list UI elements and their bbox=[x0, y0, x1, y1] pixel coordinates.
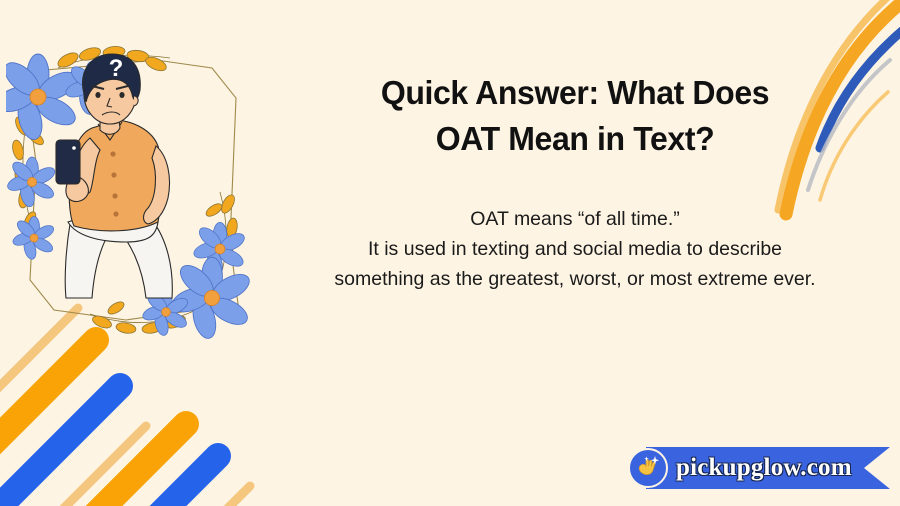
headline-line-2: OAT Mean in Text? bbox=[268, 116, 883, 162]
phone-camera-dot bbox=[72, 146, 76, 150]
stripe-orange-light-2 bbox=[30, 426, 146, 506]
page-title: Quick Answer: What Does OAT Mean in Text… bbox=[268, 70, 883, 162]
ear bbox=[134, 96, 138, 106]
body-line-2: It is used in texting and social media t… bbox=[258, 234, 892, 264]
stripe-orange-1 bbox=[0, 340, 96, 472]
promo-card: ? Quick Answer: What Does OAT Mean in Te… bbox=[0, 0, 900, 506]
sparkle-hand-icon bbox=[639, 456, 659, 475]
body-line-3: something as the greatest, worst, or mos… bbox=[258, 264, 892, 294]
brand-badge[interactable]: pickupglow.com bbox=[628, 447, 890, 489]
svg-text:?: ? bbox=[109, 55, 124, 82]
headline-line-1: Quick Answer: What Does bbox=[268, 70, 883, 116]
brand-logo bbox=[628, 448, 668, 488]
stripe-orange-light-3 bbox=[160, 486, 250, 506]
smartphone bbox=[56, 140, 80, 184]
hand-shape bbox=[639, 460, 655, 475]
stripe-blue-1 bbox=[0, 386, 120, 506]
question-mark-icon: ? bbox=[109, 55, 124, 82]
text-column: Quick Answer: What Does OAT Mean in Text… bbox=[258, 70, 892, 294]
brand-name: pickupglow.com bbox=[676, 447, 852, 489]
stripe-blue-2 bbox=[104, 456, 218, 506]
body-line-1: OAT means “of all time.” bbox=[258, 204, 892, 234]
badge-ribbon-notch bbox=[864, 447, 890, 489]
stripe-orange-2 bbox=[54, 424, 186, 506]
confused-person-with-phone-illustration: ? bbox=[6, 42, 258, 340]
body-description: OAT means “of all time.” It is used in t… bbox=[258, 162, 892, 294]
